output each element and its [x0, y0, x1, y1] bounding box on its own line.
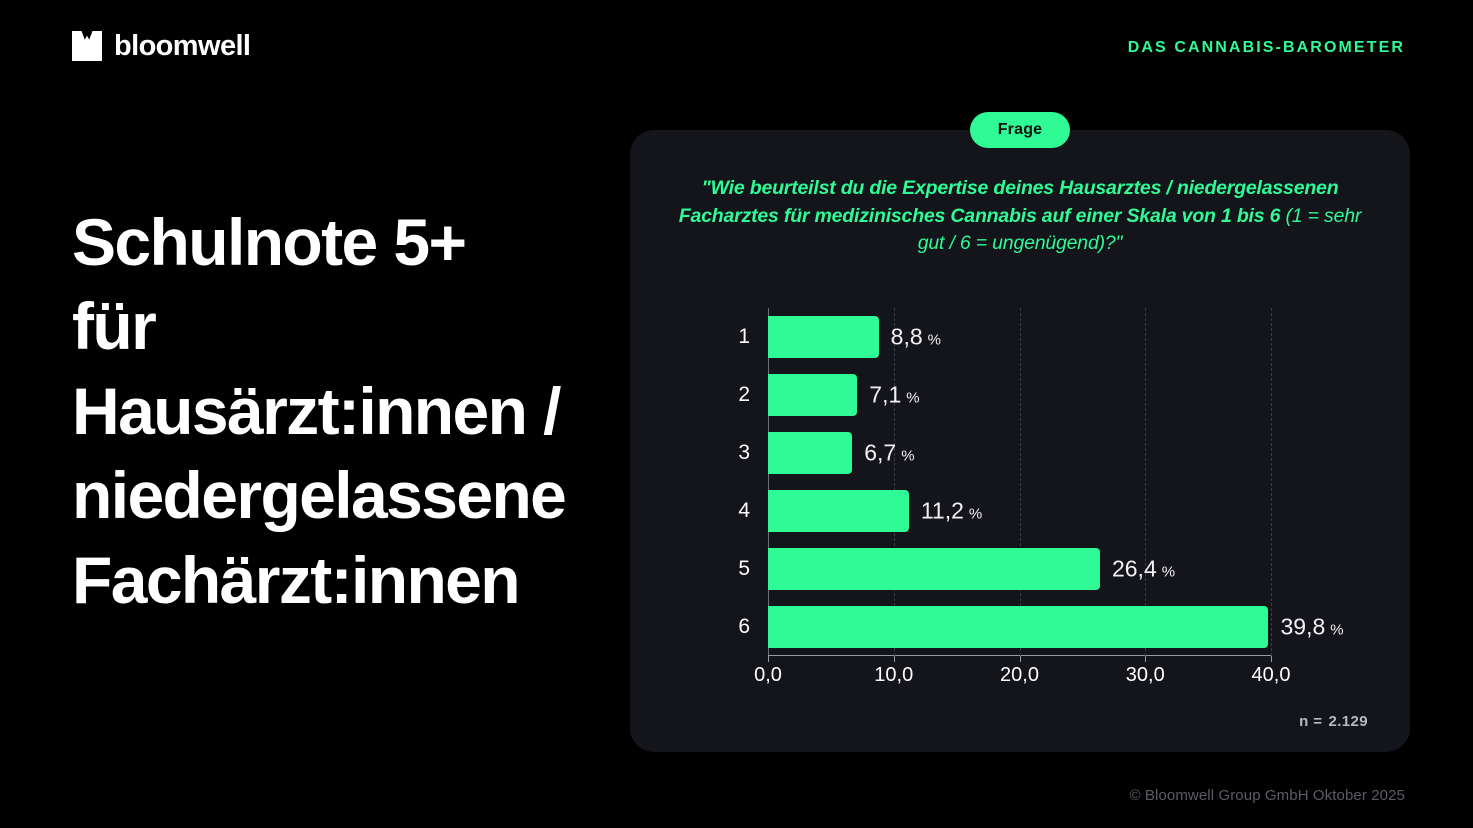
bar-value-label: 11,2%: [921, 498, 982, 525]
bar-value-number: 26,4: [1112, 556, 1157, 582]
y-axis-category-label: 1: [710, 325, 750, 349]
bar-value-unit: %: [901, 448, 914, 465]
y-axis-category-label: 6: [710, 615, 750, 639]
bar-value-label: 6,7%: [864, 440, 914, 467]
sample-size-value: 2.129: [1328, 713, 1368, 730]
x-axis-tick: [894, 656, 895, 662]
bar: [768, 606, 1268, 648]
gridline: [1020, 308, 1021, 656]
bar-value-number: 39,8: [1280, 614, 1325, 640]
bar-value-number: 11,2: [921, 498, 964, 524]
gridline: [894, 308, 895, 656]
gridline: [1271, 308, 1272, 656]
bar: [768, 490, 909, 532]
x-axis-label: 40,0: [1252, 664, 1291, 687]
page-title: Schulnote 5+ für Hausärzt:innen / nieder…: [72, 200, 612, 622]
bar: [768, 548, 1100, 590]
x-axis-label: 30,0: [1126, 664, 1165, 687]
x-axis-label: 20,0: [1000, 664, 1039, 687]
bar-value-unit: %: [928, 332, 941, 349]
x-axis-label: 10,0: [874, 664, 913, 687]
bar: [768, 316, 879, 358]
question-text-bold: "Wie beurteilst du die Expertise deines …: [679, 177, 1339, 227]
bar-value-label: 39,8%: [1280, 614, 1343, 641]
bar-value-number: 6,7: [864, 440, 896, 466]
y-axis-category-label: 3: [710, 441, 750, 465]
headline-line-5: Fachärzt:innen: [72, 538, 612, 622]
sample-size: n =2.129: [1299, 713, 1368, 730]
x-axis-tick: [1020, 656, 1021, 662]
headline-line-1: Schulnote 5+: [72, 200, 612, 284]
question-badge: Frage: [970, 112, 1070, 148]
y-axis-category-label: 4: [710, 499, 750, 523]
copyright-notice: © Bloomwell Group GmbH Oktober 2025: [1130, 787, 1406, 804]
bar-chart: 0,010,020,030,040,018,8%27,1%36,7%411,2%…: [630, 300, 1410, 680]
bar-value-unit: %: [969, 506, 982, 523]
gridline: [1145, 308, 1146, 656]
bar: [768, 432, 852, 474]
bar-value-label: 26,4%: [1112, 556, 1175, 583]
y-axis-line: [768, 308, 769, 656]
headline-line-4: niedergelassene: [72, 453, 612, 537]
x-axis-tick: [768, 656, 769, 662]
series-kicker: DAS CANNABIS-BAROMETER: [1128, 39, 1405, 57]
y-axis-category-label: 2: [710, 383, 750, 407]
x-axis-label: 0,0: [754, 664, 782, 687]
plot-area: 0,010,020,030,040,018,8%27,1%36,7%411,2%…: [768, 308, 1271, 656]
bar-value-unit: %: [1162, 564, 1175, 581]
bloomwell-square-notch-logo-icon: [72, 31, 102, 61]
question-text: "Wie beurteilst du die Expertise deines …: [678, 175, 1362, 258]
headline-line-3: Hausärzt:innen /: [72, 369, 612, 453]
bar-value-label: 8,8%: [891, 324, 941, 351]
bar-value-number: 8,8: [891, 324, 923, 350]
bar: [768, 374, 857, 416]
brand-logo: bloomwell: [72, 31, 250, 61]
poster-root: bloomwell DAS CANNABIS-BAROMETER Schulno…: [0, 0, 1473, 828]
bar-value-label: 7,1%: [869, 382, 919, 409]
bar-value-number: 7,1: [869, 382, 901, 408]
bar-value-unit: %: [906, 390, 919, 407]
headline-line-2: für: [72, 284, 612, 368]
x-axis-tick: [1271, 656, 1272, 662]
x-axis-tick: [1145, 656, 1146, 662]
sample-size-label: n =: [1299, 713, 1322, 730]
chart-card: Frage "Wie beurteilst du die Expertise d…: [630, 130, 1410, 752]
y-axis-category-label: 5: [710, 557, 750, 581]
brand-name: bloomwell: [114, 32, 250, 61]
bar-value-unit: %: [1330, 622, 1343, 639]
